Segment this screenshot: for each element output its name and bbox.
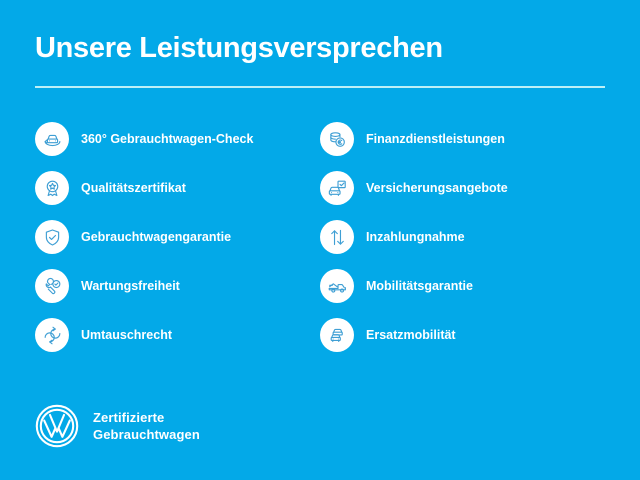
feature-label: Finanzdienstleistungen	[366, 131, 505, 147]
feature-list: 360° Gebrauchtwagen-Check Qualitätszerti…	[35, 122, 605, 352]
feature-item-mobilitaetsgarantie[interactable]: Mobilitätsgarantie	[320, 269, 605, 303]
feature-item-gebrauchtwagen-check[interactable]: 360° Gebrauchtwagen-Check	[35, 122, 320, 156]
wrench-check-icon	[35, 269, 69, 303]
feature-item-finanzdienstleistungen[interactable]: Finanzdienstleistungen	[320, 122, 605, 156]
leistungsversprechen-poster: Unsere Leistungsversprechen 360° Gebrauc	[0, 0, 640, 480]
feature-label: Mobilitätsgarantie	[366, 278, 473, 294]
arrows-up-down-icon	[320, 220, 354, 254]
feature-item-versicherungsangebote[interactable]: Versicherungsangebote	[320, 171, 605, 205]
award-rosette-icon	[35, 171, 69, 205]
feature-item-umtauschrecht[interactable]: Umtauschrecht	[35, 318, 320, 352]
brand-text: Zertifizierte Gebrauchtwagen	[93, 409, 200, 443]
feature-label: Ersatzmobilität	[366, 327, 456, 343]
brand-footer: Zertifizierte Gebrauchtwagen	[33, 402, 200, 450]
feature-label: 360° Gebrauchtwagen-Check	[81, 131, 253, 147]
feature-label: Gebrauchtwagengarantie	[81, 229, 231, 245]
exchange-arrows-icon	[35, 318, 69, 352]
feature-column-left: 360° Gebrauchtwagen-Check Qualitätszerti…	[35, 122, 320, 352]
title-divider	[35, 86, 605, 88]
page-title: Unsere Leistungsversprechen	[35, 30, 605, 66]
feature-label: Inzahlungnahme	[366, 229, 465, 245]
header: Unsere Leistungsversprechen	[35, 30, 605, 88]
volkswagen-logo-icon	[33, 402, 81, 450]
feature-item-qualitaetszertifikat[interactable]: Qualitätszertifikat	[35, 171, 320, 205]
feature-label: Versicherungsangebote	[366, 180, 508, 196]
feature-label: Wartungsfreiheit	[81, 278, 180, 294]
shield-check-icon	[35, 220, 69, 254]
feature-label: Umtauschrecht	[81, 327, 172, 343]
feature-item-gebrauchtwagengarantie[interactable]: Gebrauchtwagengarantie	[35, 220, 320, 254]
two-cars-icon	[320, 318, 354, 352]
feature-column-right: Finanzdienstleistungen Versicherungsange…	[320, 122, 605, 352]
car-360-check-icon	[35, 122, 69, 156]
tow-truck-icon	[320, 269, 354, 303]
feature-label: Qualitätszertifikat	[81, 180, 186, 196]
brand-text-line1: Zertifizierte	[93, 409, 200, 426]
feature-item-ersatzmobilitaet[interactable]: Ersatzmobilität	[320, 318, 605, 352]
brand-text-line2: Gebrauchtwagen	[93, 426, 200, 443]
car-document-check-icon	[320, 171, 354, 205]
feature-item-wartungsfreiheit[interactable]: Wartungsfreiheit	[35, 269, 320, 303]
feature-item-inzahlungnahme[interactable]: Inzahlungnahme	[320, 220, 605, 254]
coins-euro-icon	[320, 122, 354, 156]
